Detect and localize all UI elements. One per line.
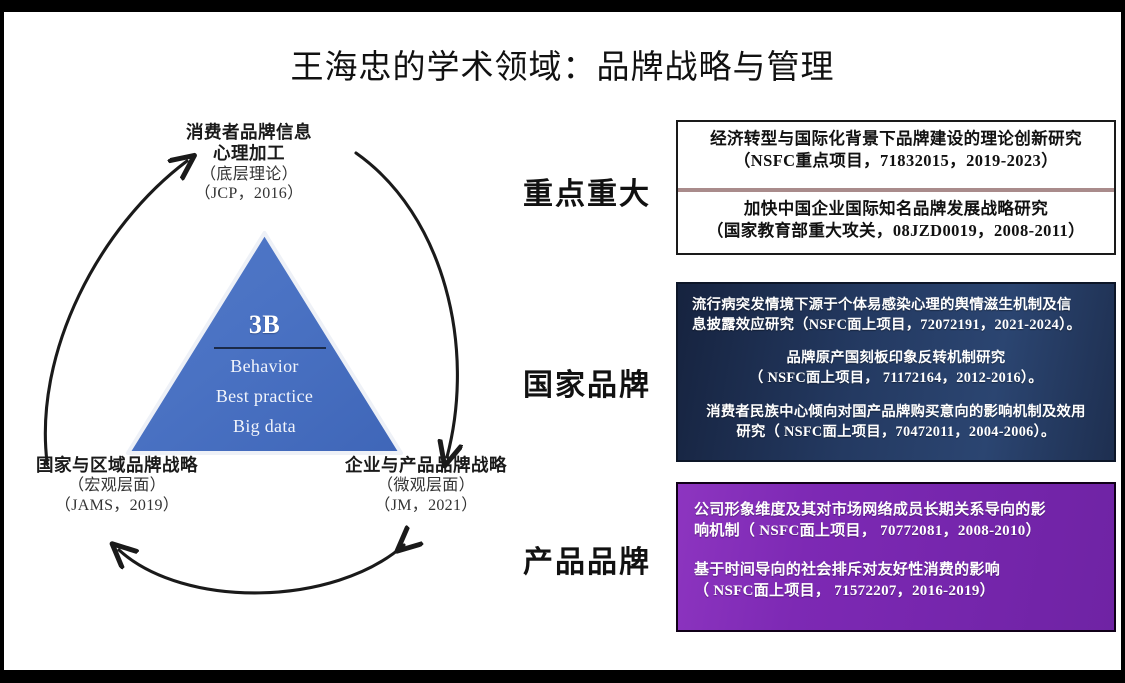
major-project-item-1: 加快中国企业国际知名品牌发展战略研究 （国家教育部重大攻关，08JZD0019，… (678, 192, 1114, 253)
major-project-1-line1: 加快中国企业国际知名品牌发展战略研究 (678, 198, 1114, 220)
node-bl-line3: （JAMS，2019） (4, 496, 242, 516)
panel-national-brand: 流行病突发情境下源于个体易感染心理的舆情滋生机制及信 息披露效应研究（NSFC面… (676, 282, 1116, 462)
pyramid-heading: 3B (122, 310, 407, 340)
pyramid-labels: 3B Behavior Best practice Big data (122, 227, 407, 459)
category-label-product: 产品品牌 (523, 537, 651, 581)
diagram-node-bottom-right: 企业与产品品牌战略 （微观层面） （JM，2021） (306, 455, 546, 515)
arc-bottom (119, 545, 404, 593)
node-br-line2: （微观层面） (306, 476, 546, 496)
nation-project-item-1: 品牌原产国刻板印象反转机制研究 （ NSFC面上项目， 71172164，201… (692, 349, 1100, 388)
nation-project-0-line2: 息披露效应研究（NSFC面上项目，72072191，2021-2024）。 (692, 316, 1100, 336)
pyramid-rule (214, 347, 326, 349)
nation-project-1-line1: 品牌原产国刻板印象反转机制研究 (692, 349, 1100, 369)
product-project-0-line2: 响机制（ NSFC面上项目， 70772081，2008-2010） (694, 521, 1098, 542)
slide-canvas: 王海忠的学术领域：品牌战略与管理 (4, 12, 1121, 670)
nation-project-2-line2: 研究（ NSFC面上项目，70472011，2004-2006）。 (692, 423, 1100, 443)
pyramid-item-best-practice: Best practice (122, 386, 407, 407)
cycle-diagram: 3B Behavior Best practice Big data 消费者品牌… (4, 107, 544, 647)
product-project-1-line2: （ NSFC面上项目， 71572207，2016-2019） (694, 581, 1098, 602)
node-bl-line1: 国家与区域品牌战略 (4, 455, 242, 476)
major-project-0-line2: （NSFC重点项目，71832015，2019-2023） (678, 150, 1114, 172)
product-project-0-line1: 公司形象维度及其对市场网络成员长期关系导向的影 (694, 500, 1098, 521)
node-bl-line2: （宏观层面） (4, 476, 242, 496)
node-top-line1: 消费者品牌信息 (124, 122, 374, 143)
page-title: 王海忠的学术领域：品牌战略与管理 (4, 40, 1121, 88)
panel-major-projects: 经济转型与国际化背景下品牌建设的理论创新研究 （NSFC重点项目，7183201… (676, 120, 1116, 255)
node-br-line1: 企业与产品品牌战略 (306, 455, 546, 476)
node-br-line3: （JM，2021） (306, 496, 546, 516)
product-project-item-0: 公司形象维度及其对市场网络成员长期关系导向的影 响机制（ NSFC面上项目， 7… (694, 500, 1098, 542)
diagram-node-top: 消费者品牌信息 心理加工 （底层理论） （JCP，2016） (124, 122, 374, 204)
pyramid-item-behavior: Behavior (122, 356, 407, 377)
major-project-item-0: 经济转型与国际化背景下品牌建设的理论创新研究 （NSFC重点项目，7183201… (678, 122, 1114, 188)
pyramid-graphic: 3B Behavior Best practice Big data (122, 227, 407, 459)
nation-project-0-line1: 流行病突发情境下源于个体易感染心理的舆情滋生机制及信 (692, 296, 1100, 316)
product-project-1-line1: 基于时间导向的社会排斥对友好性消费的影响 (694, 560, 1098, 581)
major-project-0-line1: 经济转型与国际化背景下品牌建设的理论创新研究 (678, 128, 1114, 150)
node-top-line2: 心理加工 (124, 143, 374, 164)
product-project-item-1: 基于时间导向的社会排斥对友好性消费的影响 （ NSFC面上项目， 7157220… (694, 560, 1098, 602)
node-top-line4: （JCP，2016） (124, 184, 374, 204)
nation-project-2-line1: 消费者民族中心倾向对国产品牌购买意向的影响机制及效用 (692, 403, 1100, 423)
diagram-node-bottom-left: 国家与区域品牌战略 （宏观层面） （JAMS，2019） (4, 455, 242, 515)
nation-project-item-2: 消费者民族中心倾向对国产品牌购买意向的影响机制及效用 研究（ NSFC面上项目，… (692, 403, 1100, 442)
node-top-line3: （底层理论） (124, 165, 374, 185)
major-project-1-line2: （国家教育部重大攻关，08JZD0019，2008-2011） (678, 220, 1114, 242)
category-label-nation: 国家品牌 (523, 360, 651, 404)
category-label-major: 重点重大 (523, 169, 651, 213)
nation-project-1-line2: （ NSFC面上项目， 71172164，2012-2016）。 (692, 369, 1100, 389)
pyramid-item-big-data: Big data (122, 416, 407, 437)
nation-project-item-0: 流行病突发情境下源于个体易感染心理的舆情滋生机制及信 息披露效应研究（NSFC面… (692, 296, 1100, 335)
panel-product-brand: 公司形象维度及其对市场网络成员长期关系导向的影 响机制（ NSFC面上项目， 7… (676, 482, 1116, 632)
